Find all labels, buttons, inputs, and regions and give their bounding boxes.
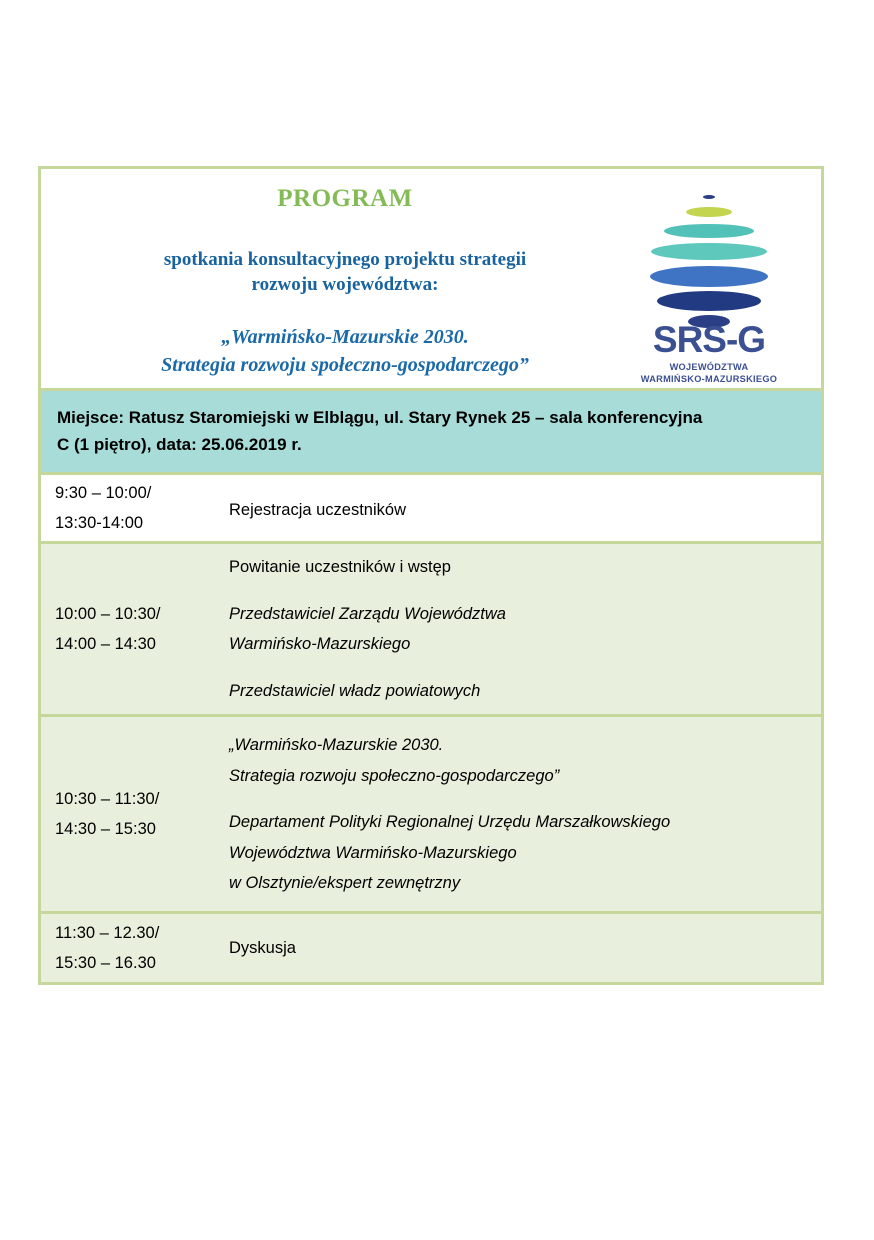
venue-line-2: C (1 piętro), data: 25.06.2019 r. [57,431,807,458]
agenda-description-cell: „Warmińsko-Mazurskie 2030. Strategia roz… [217,717,821,911]
program-header: PROGRAM spotkania konsultacyjnego projek… [41,169,821,391]
agenda-description-line: Departament Polityki Regionalnej Urzędu … [229,807,811,838]
agenda-time-cell: 9:30 – 10:00/ 13:30-14:00 [41,475,217,541]
venue-line-1: Miejsce: Ratusz Staromiejski w Elblągu, … [57,404,807,431]
program-subtitle: spotkania konsultacyjnego projektu strat… [45,247,645,298]
logo-ellipse-2 [686,207,732,217]
agenda-description-line: Województwa Warmińsko-Mazurskiego [229,838,811,869]
logo-ellipse-3 [664,224,754,238]
agenda-description-line: Dyskusja [229,933,811,964]
agenda-time-line-1: 10:30 – 11:30/ [55,784,211,815]
subtitle-line-2: rozwoju województwa: [45,272,645,297]
logo-subtitle-line-2: WARMIŃSKO-MAZURSKIEGO [625,374,793,386]
agenda-description-line: „Warmińsko-Mazurskie 2030. [229,730,811,761]
logo-brand-text: SRS-G [625,321,793,358]
agenda-time-line-1: 11:30 – 12.30/ [55,918,211,949]
agenda-time-line-2: 14:30 – 15:30 [55,814,211,845]
table-row: 9:30 – 10:00/ 13:30-14:00 Rejestracja uc… [41,475,821,544]
agenda-time-line-2: 13:30-14:00 [55,508,211,539]
agenda-description-line: Strategia rozwoju społeczno-gospodarczeg… [229,761,811,792]
page-title: PROGRAM [45,185,645,213]
agenda-time-line-1: 10:00 – 10:30/ [55,599,211,630]
agenda-time-line-2: 15:30 – 16.30 [55,948,211,979]
agenda-description-line: Rejestracja uczestników [229,495,811,526]
strategy-line-2: Strategia rozwoju społeczno-gospodarczeg… [45,352,645,380]
document-page: PROGRAM spotkania konsultacyjnego projek… [0,0,874,1240]
table-row: 11:30 – 12.30/ 15:30 – 16.30 Dyskusja [41,914,821,982]
logo-ellipse-stack-icon [625,193,793,313]
agenda-description-line: Przedstawiciel władz powiatowych [229,676,811,707]
logo-ellipse-1 [703,195,715,199]
agenda-description-line: Warmińsko-Mazurskiego [229,629,811,660]
strategy-line-1: „Warmińsko-Mazurskie 2030. [45,324,645,352]
program-table: PROGRAM spotkania konsultacyjnego projek… [38,166,824,985]
strategy-title: „Warmińsko-Mazurskie 2030. Strategia roz… [45,324,645,379]
agenda-description-cell: Dyskusja [217,914,821,982]
logo-subtitle-line-1: WOJEWÓDZTWA [625,362,793,374]
agenda-description-line: w Olsztynie/ekspert zewnętrzny [229,868,811,899]
agenda-time-cell: 10:00 – 10:30/ 14:00 – 14:30 [41,544,217,714]
table-row: 10:00 – 10:30/ 14:00 – 14:30 Powitanie u… [41,544,821,717]
table-row: 10:30 – 11:30/ 14:30 – 15:30 „Warmińsko-… [41,717,821,914]
agenda-description-line: Powitanie uczestników i wstęp [229,552,811,583]
logo-subtitle: WOJEWÓDZTWA WARMIŃSKO-MAZURSKIEGO [625,362,793,386]
venue-info-band: Miejsce: Ratusz Staromiejski w Elblągu, … [41,391,821,475]
agenda-time-line-1: 9:30 – 10:00/ [55,478,211,509]
agenda-description-cell: Powitanie uczestników i wstęp Przedstawi… [217,544,821,714]
agenda-description-cell: Rejestracja uczestników [217,475,821,541]
srsg-logo: SRS-G WOJEWÓDZTWA WARMIŃSKO-MAZURSKIEGO [625,193,793,375]
subtitle-line-1: spotkania konsultacyjnego projektu strat… [45,247,645,272]
logo-ellipse-5 [650,266,768,287]
header-text-column: PROGRAM spotkania konsultacyjnego projek… [41,185,645,379]
agenda-time-cell: 10:30 – 11:30/ 14:30 – 15:30 [41,717,217,911]
logo-ellipse-4 [651,243,767,260]
logo-ellipse-6 [657,291,761,311]
agenda-description-line: Przedstawiciel Zarządu Województwa [229,599,811,630]
agenda-time-line-2: 14:00 – 14:30 [55,629,211,660]
agenda-time-cell: 11:30 – 12.30/ 15:30 – 16.30 [41,914,217,982]
